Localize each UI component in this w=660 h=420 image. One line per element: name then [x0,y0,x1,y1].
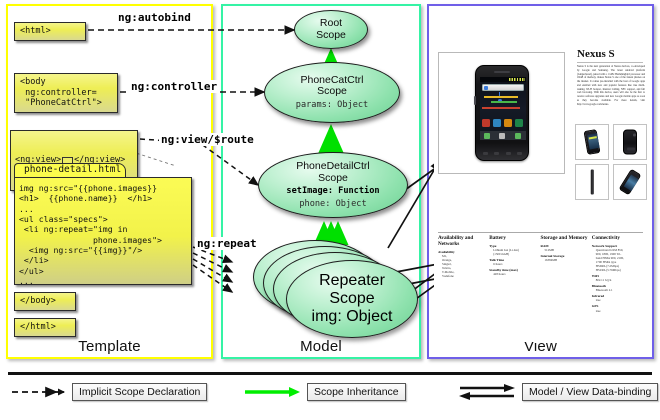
phone-detail-template-note: phone-detail.html img ng:src="{{phone.im… [14,163,192,285]
spec-value-battery-talktime-0: 6 hours [489,262,537,266]
thumbnail-nexus-s-front[interactable] [575,124,609,160]
app-icon-1 [482,119,490,127]
label-ng-view-route: ng:view/$route [159,133,256,146]
scope-detail-title-2: Scope [318,173,348,185]
note-title: phone-detail.html [24,164,121,175]
legend-implicit-scope-declaration: Implicit Scope Declaration [10,383,207,401]
label-ng-autobind: ng:autobind [116,11,193,24]
scope-root-title-2: Scope [316,30,346,42]
legend-model-view-databinding: Model / View Data-binding [458,383,658,401]
scope-root-title-1: Root [320,18,342,30]
spec-value-internal-storage-0: 16384MB [541,258,589,262]
spec-column-availability: Availability and Networks Availability M… [438,236,489,340]
diagram-canvas: Template <html> <body ng:controller= "Ph… [0,0,660,420]
phone-screen [480,77,526,140]
legend-divider [8,372,652,375]
scope-repeater-member-img: img: Object [312,308,393,326]
thumbnail-grid [575,124,647,200]
phone-status-bar [480,77,526,82]
spec-heading-storage: Storage and Memory [541,236,589,242]
template-panel-label: Template [8,338,211,355]
legend-dashed-arrow-icon [10,385,66,399]
scope-root: Root Scope [294,10,368,49]
spec-value-wifi-0: 802.11 b/g/n [592,278,640,282]
scope-phonecatctrl: PhoneCatCtrl Scope params: Object [264,62,400,123]
thumb-phone-angled [619,169,642,196]
label-ng-controller: ng:controller [129,80,219,93]
soft-button-home [517,152,522,155]
spec-value-battery-type-1: (1500 mAH) [489,252,537,256]
legend-scope-inheritance: Scope Inheritance [243,383,406,401]
app-icon-4 [515,119,523,127]
legend-double-arrow-icon [458,383,516,401]
home-widget-green [491,101,517,103]
spec-value-gps-0: true [592,309,640,313]
phone-side-button [474,96,476,105]
thumbnail-nexus-s-angled[interactable] [613,164,647,200]
home-widget-yellow [484,96,518,98]
label-ng-repeat: ng:repeat [195,237,259,250]
note-code: img ng:src="{{phone.images}} <h1> {{phon… [19,183,162,286]
product-title: Nexus S [577,48,615,60]
legend-green-arrow-icon [243,385,301,399]
scope-repeater: Repeater Scope img: Object [286,260,418,338]
thumb-phone-back [623,130,637,155]
hero-image-frame [438,52,565,174]
scope-repeater-stack: Repeater Scope img: Object [253,240,413,340]
google-search-widget [482,84,524,91]
scope-repeater-title-1: Repeater [319,272,385,290]
thumbnail-nexus-s-edge[interactable] [575,164,609,200]
code-box-body-open: <body ng:controller= "PhoneCatCtrl"> [14,73,118,113]
scope-cat-member-params: params: Object [296,100,368,110]
scope-cat-title-2: Scope [317,86,347,98]
google-icon [484,86,488,90]
legend-label-implicit: Implicit Scope Declaration [72,383,207,401]
rendered-view-card: Nexus S Nexus S is the next generation o… [434,12,647,342]
spec-value-battery-standby-0: 428 hours [489,272,537,276]
home-widget-red [482,107,520,109]
phone-speaker [494,71,510,73]
scope-repeater-title-2: Scope [329,290,374,308]
spec-value-availability-5: Vodafone [438,274,486,278]
spec-heading-availability: Availability and Networks [438,236,486,248]
app-icon-2 [493,119,501,127]
dock-icon-phone [484,133,490,139]
code-box-html-close: </html> [14,318,76,337]
spec-heading-connectivity: Connectivity [592,236,640,242]
spec-value-network-5: HSUPA (5.76Mbps) [592,268,640,272]
status-icons [509,78,525,81]
soft-button-search [506,152,511,155]
legend-label-databinding: Model / View Data-binding [522,383,658,401]
spec-column-connectivity: Connectivity Network Support Quad-band G… [592,236,643,340]
spec-value-bluetooth-0: Bluetooth 2.1 [592,288,640,292]
thumb-phone-edge [591,170,594,195]
model-panel-label: Model [223,338,419,355]
spec-value-infrared-0: true [592,298,640,302]
legend-label-inheritance: Scope Inheritance [307,383,406,401]
home-app-icons [482,119,524,130]
soft-button-back [483,152,488,155]
spec-table: Availability and Networks Availability M… [438,232,643,340]
scope-detail-member-phone: phone: Object [299,199,366,209]
spec-value-ram-0: 512MB [541,248,589,252]
thumb-phone-front [584,129,601,155]
scope-phonedetailctrl: PhoneDetailCtrl Scope setImage: Function… [258,152,408,218]
spec-column-battery: Battery Type Lithium Ion (Li-Ion) (1500 … [489,236,540,340]
spec-column-storage: Storage and Memory RAM 512MB Internal St… [541,236,592,340]
thumbnail-nexus-s-back[interactable] [613,124,647,160]
spec-heading-battery: Battery [489,236,537,242]
code-box-html-open: <html> [14,22,86,41]
phone-soft-buttons [480,150,526,156]
dock-icon-apps [499,133,505,139]
code-box-body-close: </body> [14,292,76,311]
scope-detail-member-setimage: setImage: Function [286,186,379,196]
dock-icon-browser [515,133,521,139]
app-icon-3 [504,119,512,127]
soft-button-menu [494,152,499,155]
product-description: Nexus S is the next generation of Nexus … [577,65,645,106]
phone-dock-tray [480,131,526,140]
nexus-s-hero-image [475,65,529,161]
